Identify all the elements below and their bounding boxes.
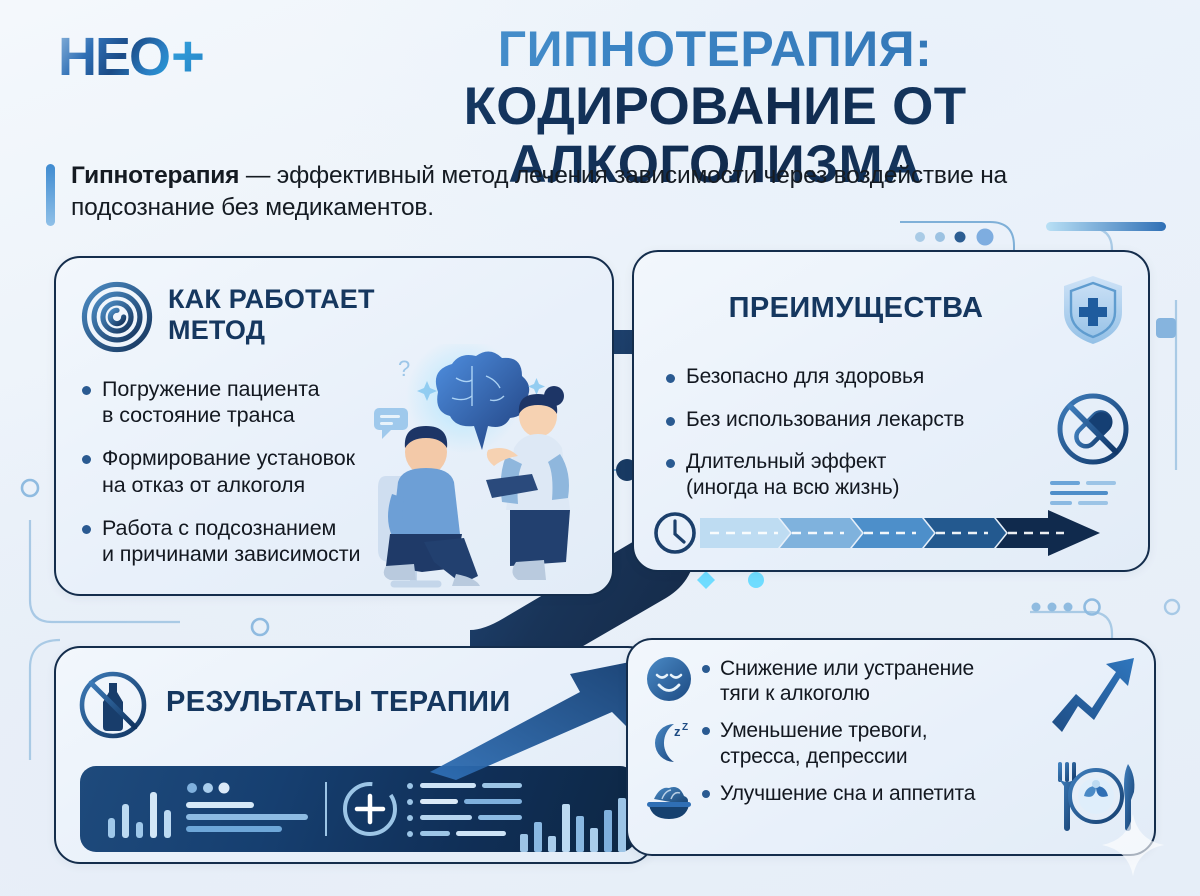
brand-name: HEO [58, 30, 169, 84]
node-circle-mid [252, 619, 268, 635]
plus-circle-icon [345, 784, 395, 834]
list-item: Длительный эффект (иногда на всю жизнь) [666, 449, 1026, 500]
card-therapy-results: РЕЗУЛЬТАТЫ ТЕРАПИИ [54, 646, 654, 864]
bullet-dot-icon [702, 665, 710, 673]
calm-face-icon [644, 654, 694, 704]
fork-icon [1058, 764, 1076, 831]
node-circle-left [22, 480, 38, 496]
food-bowl-icon [644, 779, 694, 829]
analytics-dashboard-graphic [80, 766, 636, 852]
sleeping-moon-icon: z Z [644, 716, 694, 766]
advantage-item-1: Безопасно для здоровья [686, 364, 924, 390]
therapist-patient-brain-illustration: ? [368, 344, 614, 594]
bullet-dot-icon [702, 727, 710, 735]
list-item: Улучшение сна и аппетита [644, 777, 1074, 829]
card-outcomes: Снижение или устранение тяги к алкоголю … [626, 638, 1156, 856]
brand-logo: HEO + [58, 26, 248, 88]
text-lines-icon [1050, 480, 1122, 508]
bullet-dot-icon [666, 459, 675, 468]
clock-icon [656, 514, 694, 552]
list-item: Снижение или устранение тяги к алкоголю [644, 652, 1074, 706]
subtitle-accent-bar [46, 164, 55, 226]
list-item: Безопасно для здоровья [666, 364, 1026, 390]
bullet-dot-icon [82, 386, 91, 395]
dot-row [187, 783, 230, 794]
poster-header: HEO + ГИПНОТЕРАПИЯ: КОДИРОВАНИЕ ОТ АЛКОГ… [0, 0, 1200, 160]
node-square-right [1156, 318, 1176, 338]
card-results-title: РЕЗУЛЬТАТЫ ТЕРАПИИ [166, 686, 511, 719]
shield-plus-icon [1060, 274, 1126, 346]
card-advantages: ПРЕИМУЩЕСТВА [632, 250, 1150, 572]
svg-text:Z: Z [682, 722, 688, 733]
no-alcohol-bottle-icon [78, 670, 148, 740]
advantages-bullet-list: Безопасно для здоровья Без использования… [666, 364, 1026, 517]
outcome-item-1: Снижение или устранение тяги к алкоголю [720, 656, 974, 706]
subtitle: Гипнотерапия — эффективный метод лечения… [46, 160, 1106, 226]
bullet-dot-icon [82, 455, 91, 464]
subtitle-text: Гипнотерапия — эффективный метод лечения… [71, 160, 1106, 224]
duration-timeline-arrow [652, 510, 1122, 556]
bullet-dot-icon [666, 374, 675, 383]
method-item-3: Работа с подсознанием и причинами зависи… [102, 515, 360, 567]
bullet-dot-icon [666, 417, 675, 426]
bullet-dot-icon [702, 790, 710, 798]
svg-text:?: ? [398, 356, 410, 381]
knife-icon [1124, 764, 1134, 831]
dot-cluster-bottom [1032, 600, 1100, 615]
checklist-lines [407, 783, 522, 837]
infographic-poster: HEO + ГИПНОТЕРАПИЯ: КОДИРОВАНИЕ ОТ АЛКОГ… [0, 0, 1200, 896]
outcome-item-2: Уменьшение тревоги, стресса, депрессии [720, 718, 927, 768]
advantage-item-2: Без использования лекарств [686, 407, 964, 433]
method-item-2: Формирование установок на отказ от алког… [102, 445, 355, 497]
outcomes-list: Снижение или устранение тяги к алкоголю … [644, 652, 1074, 837]
outcome-item-3: Улучшение сна и аппетита [720, 781, 975, 806]
node-circle-right [1165, 600, 1179, 614]
list-item: z Z Уменьшение тревоги, стресса, депресс… [644, 714, 1074, 768]
hypnosis-spiral-icon [80, 280, 154, 354]
healthy-meal-icon [1054, 760, 1138, 832]
svg-text:z: z [674, 724, 681, 739]
advantage-item-3: Длительный эффект (иногда на всю жизнь) [686, 449, 899, 500]
dot-cluster-top [915, 229, 994, 246]
card-how-method-works: КАК РАБОТАЕТ МЕТОД Погружение пациента в… [54, 256, 614, 596]
brand-plus-icon: + [171, 28, 205, 86]
title-line-primary: ГИПНОТЕРАПИЯ: [250, 22, 1180, 76]
growth-arrow-icon [1050, 650, 1136, 736]
method-item-1: Погружение пациента в состояние транса [102, 376, 320, 428]
text-lines [186, 802, 308, 832]
chat-bubble-icon [374, 408, 408, 439]
subtitle-lead: Гипнотерапия [71, 162, 239, 189]
card-method-title: КАК РАБОТАЕТ МЕТОД [168, 284, 468, 346]
bar-chart-mini [108, 792, 171, 838]
no-pill-icon [1056, 392, 1130, 466]
list-item: Без использования лекарств [666, 407, 1026, 433]
bullet-dot-icon [82, 525, 91, 534]
